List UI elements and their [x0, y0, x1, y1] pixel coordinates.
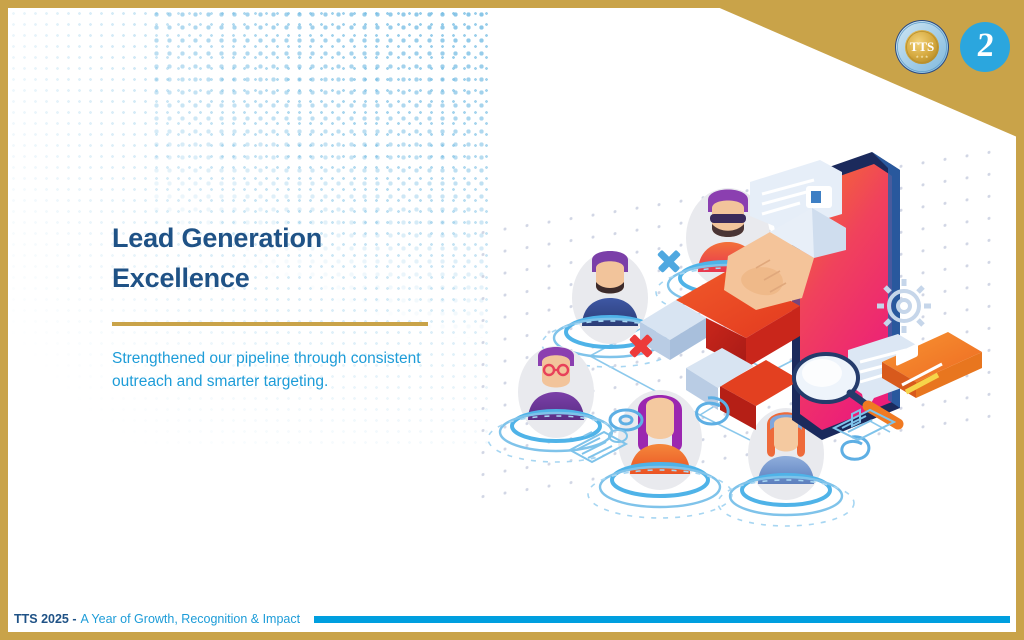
footer-accent-bar [314, 616, 1010, 623]
footer-tagline: A Year of Growth, Recognition & Impact [81, 612, 301, 626]
headline-block: Lead Generation Excellence Strengthened … [112, 218, 452, 393]
page-title-line1: Lead Generation [112, 223, 322, 253]
seal-initials: TTS [910, 39, 935, 54]
badge-number: 2 [975, 29, 994, 63]
slide-root: Lead Generation Excellence Strengthened … [0, 0, 1024, 640]
page-title: Lead Generation Excellence [112, 218, 452, 298]
lead-generation-illustration [470, 110, 1010, 530]
tts-seal-logo[interactable]: TTS ★ ★ ★ [894, 19, 950, 75]
footer: TTS 2025 - A Year of Growth, Recognition… [14, 610, 1012, 628]
footer-brand: TTS 2025 - [14, 612, 77, 626]
title-divider [112, 322, 428, 326]
subtitle-text: Strengthened our pipeline through consis… [112, 348, 452, 393]
anniversary-badge-logo[interactable]: 2 [960, 22, 1010, 72]
logo-group: TTS ★ ★ ★ 2 [894, 19, 1010, 75]
page-title-line2: Excellence [112, 263, 250, 293]
svg-text:★ ★ ★: ★ ★ ★ [916, 54, 929, 59]
